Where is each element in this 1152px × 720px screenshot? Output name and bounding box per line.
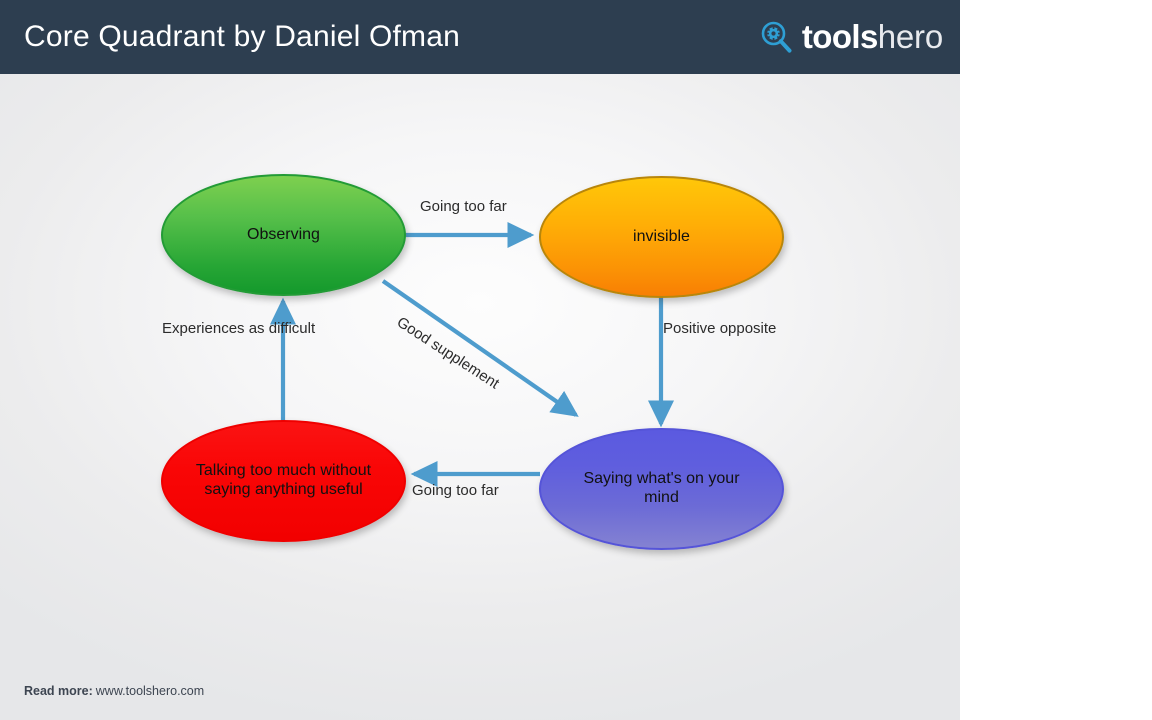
logo-text-hero: hero	[878, 18, 943, 55]
node-pitfall[interactable]: invisible	[539, 176, 784, 298]
logo-wordmark: toolshero	[802, 20, 943, 54]
arrow-quality-to-allergy	[383, 281, 576, 415]
node-pitfall-label: invisible	[607, 228, 716, 247]
node-allergy[interactable]: Saying what's on your mind	[539, 428, 784, 550]
edge-label-experiences-as-difficult: Experiences as difficult	[162, 318, 274, 340]
slide-header: Core Quadrant by Daniel Ofman	[0, 0, 960, 74]
node-core-quality-label: Observing	[221, 226, 346, 245]
footer-url[interactable]: www.toolshero.com	[96, 684, 204, 698]
magnifier-gear-icon	[759, 20, 793, 54]
toolshero-logo: toolshero	[759, 14, 943, 60]
node-challenge[interactable]: Talking too much without saying anything…	[161, 420, 406, 542]
logo-text-tools: tools	[802, 18, 878, 55]
page-title: Core Quadrant by Daniel Ofman	[24, 20, 460, 54]
edge-label-going-too-far-top: Going too far	[420, 196, 507, 218]
core-quadrant-diagram: Observing invisible Talking too much wit…	[0, 74, 960, 674]
node-challenge-label: Talking too much without saying anything…	[163, 462, 404, 500]
edge-label-positive-opposite: Positive opposite	[663, 318, 763, 340]
node-core-quality[interactable]: Observing	[161, 174, 406, 296]
footer-read-more: Read more:www.toolshero.com	[24, 684, 204, 698]
slide-canvas: Core Quadrant by Daniel Ofman	[0, 0, 960, 720]
node-allergy-label: Saying what's on your mind	[541, 470, 782, 508]
footer-prefix: Read more:	[24, 684, 93, 698]
edge-label-going-too-far-bottom: Going too far	[412, 480, 499, 502]
